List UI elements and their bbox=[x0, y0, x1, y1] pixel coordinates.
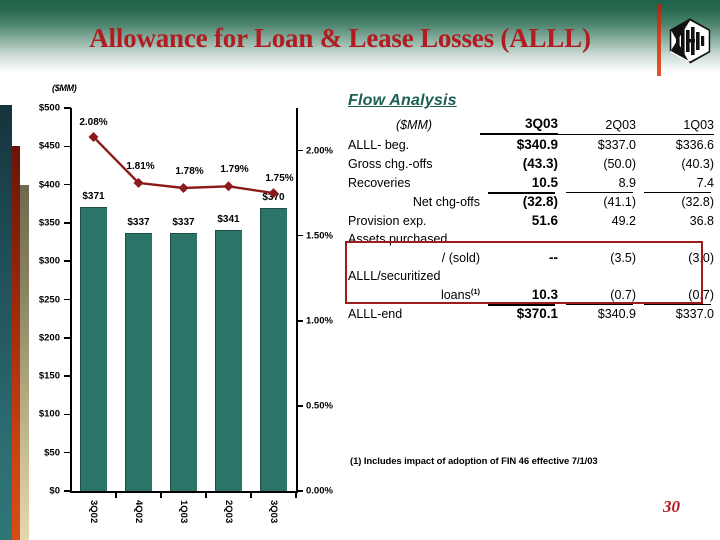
flow-table-row: Assets purchased bbox=[348, 230, 714, 248]
flow-row-label: ALLL- beg. bbox=[348, 134, 480, 154]
flow-table-header-row: ($MM)3Q032Q031Q03 bbox=[348, 114, 714, 134]
flow-cell: $337.0 bbox=[558, 134, 636, 154]
flow-cell bbox=[636, 230, 714, 248]
flow-column-header: 2Q03 bbox=[558, 114, 636, 134]
flow-cell: (50.0) bbox=[558, 154, 636, 173]
flow-row-label: / (sold) bbox=[348, 248, 480, 267]
flow-analysis-table: ($MM)3Q032Q031Q03ALLL- beg.$340.9$337.0$… bbox=[348, 114, 714, 323]
flow-cell: 49.2 bbox=[558, 211, 636, 230]
flow-row-label: Gross chg.-offs bbox=[348, 154, 480, 173]
flow-cell bbox=[480, 267, 558, 285]
alll-chart: ($MM) $0$50$100$150$200$250$300$350$400$… bbox=[0, 80, 350, 500]
page-number: 30 bbox=[663, 497, 680, 517]
chart-ratio-line bbox=[0, 80, 350, 500]
flow-cell bbox=[480, 230, 558, 248]
flow-cell: $370.1 bbox=[480, 304, 558, 323]
flow-cell: (32.8) bbox=[480, 192, 558, 211]
flow-cell: $336.6 bbox=[636, 134, 714, 154]
chart-ratio-value-label: 1.75% bbox=[265, 173, 293, 184]
flow-cell: (3.5) bbox=[558, 248, 636, 267]
chart-ratio-value-label: 1.78% bbox=[175, 166, 203, 177]
flow-table-row: Recoveries10.58.97.4 bbox=[348, 173, 714, 192]
logo-divider bbox=[657, 4, 661, 76]
flow-cell bbox=[558, 230, 636, 248]
flow-cell: $340.9 bbox=[480, 134, 558, 154]
flow-cell: $340.9 bbox=[558, 304, 636, 323]
flow-cell: 7.4 bbox=[636, 173, 714, 192]
chart-ratio-value-label: 1.81% bbox=[126, 161, 154, 172]
flow-table-row: Net chg-offs(32.8)(41.1)(32.8) bbox=[348, 192, 714, 211]
flow-table-row: ALLL-end$370.1$340.9$337.0 bbox=[348, 304, 714, 323]
chart-x-label: 3Q03 bbox=[268, 500, 279, 523]
flow-row-label: ALLL-end bbox=[348, 304, 480, 323]
chart-x-label: 2Q03 bbox=[223, 500, 234, 523]
flow-table-row: ALLL/securitized bbox=[348, 267, 714, 285]
chart-x-label: 1Q03 bbox=[178, 500, 189, 523]
flow-cell: (40.3) bbox=[636, 154, 714, 173]
chart-x-label: 3Q02 bbox=[88, 500, 99, 523]
flow-table-row: / (sold)--(3.5)(3.0) bbox=[348, 248, 714, 267]
flow-cell bbox=[636, 267, 714, 285]
flow-cell: 36.8 bbox=[636, 211, 714, 230]
flow-footnote: (1) Includes impact of adoption of FIN 4… bbox=[350, 456, 598, 467]
flow-cell: (0.7) bbox=[636, 285, 714, 304]
flow-cell: (41.1) bbox=[558, 192, 636, 211]
flow-table-row: ALLL- beg.$340.9$337.0$336.6 bbox=[348, 134, 714, 154]
flow-footnote-marker: (1) bbox=[471, 287, 480, 296]
flow-unit-label: ($MM) bbox=[348, 114, 480, 134]
chart-ratio-value-label: 1.79% bbox=[220, 164, 248, 175]
flow-cell: 8.9 bbox=[558, 173, 636, 192]
flow-column-header: 1Q03 bbox=[636, 114, 714, 134]
flow-analysis-title: Flow Analysis bbox=[348, 92, 720, 110]
flow-cell: 10.5 bbox=[480, 173, 558, 192]
flow-cell: $337.0 bbox=[636, 304, 714, 323]
flow-row-label: Assets purchased bbox=[348, 230, 480, 248]
slide-root: Allowance for Loan & Lease Losses (ALLL)… bbox=[0, 0, 720, 540]
flow-row-label: ALLL/securitized bbox=[348, 267, 480, 285]
flow-cell bbox=[558, 267, 636, 285]
chart-x-label: 4Q02 bbox=[133, 500, 144, 523]
page-title: Allowance for Loan & Lease Losses (ALLL) bbox=[30, 23, 650, 54]
flow-cell: (0.7) bbox=[558, 285, 636, 304]
flow-table-row: loans(1)10.3(0.7)(0.7) bbox=[348, 285, 714, 304]
flow-cell: 10.3 bbox=[480, 285, 558, 304]
flow-column-header: 3Q03 bbox=[480, 114, 558, 134]
flow-table-row: Provision exp.51.649.236.8 bbox=[348, 211, 714, 230]
flow-cell: (43.3) bbox=[480, 154, 558, 173]
flow-cell: -- bbox=[480, 248, 558, 267]
flow-cell: (32.8) bbox=[636, 192, 714, 211]
flow-row-label: Recoveries bbox=[348, 173, 480, 192]
flow-cell: 51.6 bbox=[480, 211, 558, 230]
flow-row-label: Net chg-offs bbox=[348, 192, 480, 211]
flow-row-label: loans(1) bbox=[348, 285, 480, 304]
flow-row-label: Provision exp. bbox=[348, 211, 480, 230]
huntington-hexagon-logo-icon bbox=[668, 18, 712, 64]
flow-cell: (3.0) bbox=[636, 248, 714, 267]
flow-analysis-panel: Flow Analysis ($MM)3Q032Q031Q03ALLL- beg… bbox=[348, 92, 720, 323]
chart-ratio-value-label: 2.08% bbox=[79, 117, 107, 128]
flow-table-row: Gross chg.-offs(43.3)(50.0)(40.3) bbox=[348, 154, 714, 173]
